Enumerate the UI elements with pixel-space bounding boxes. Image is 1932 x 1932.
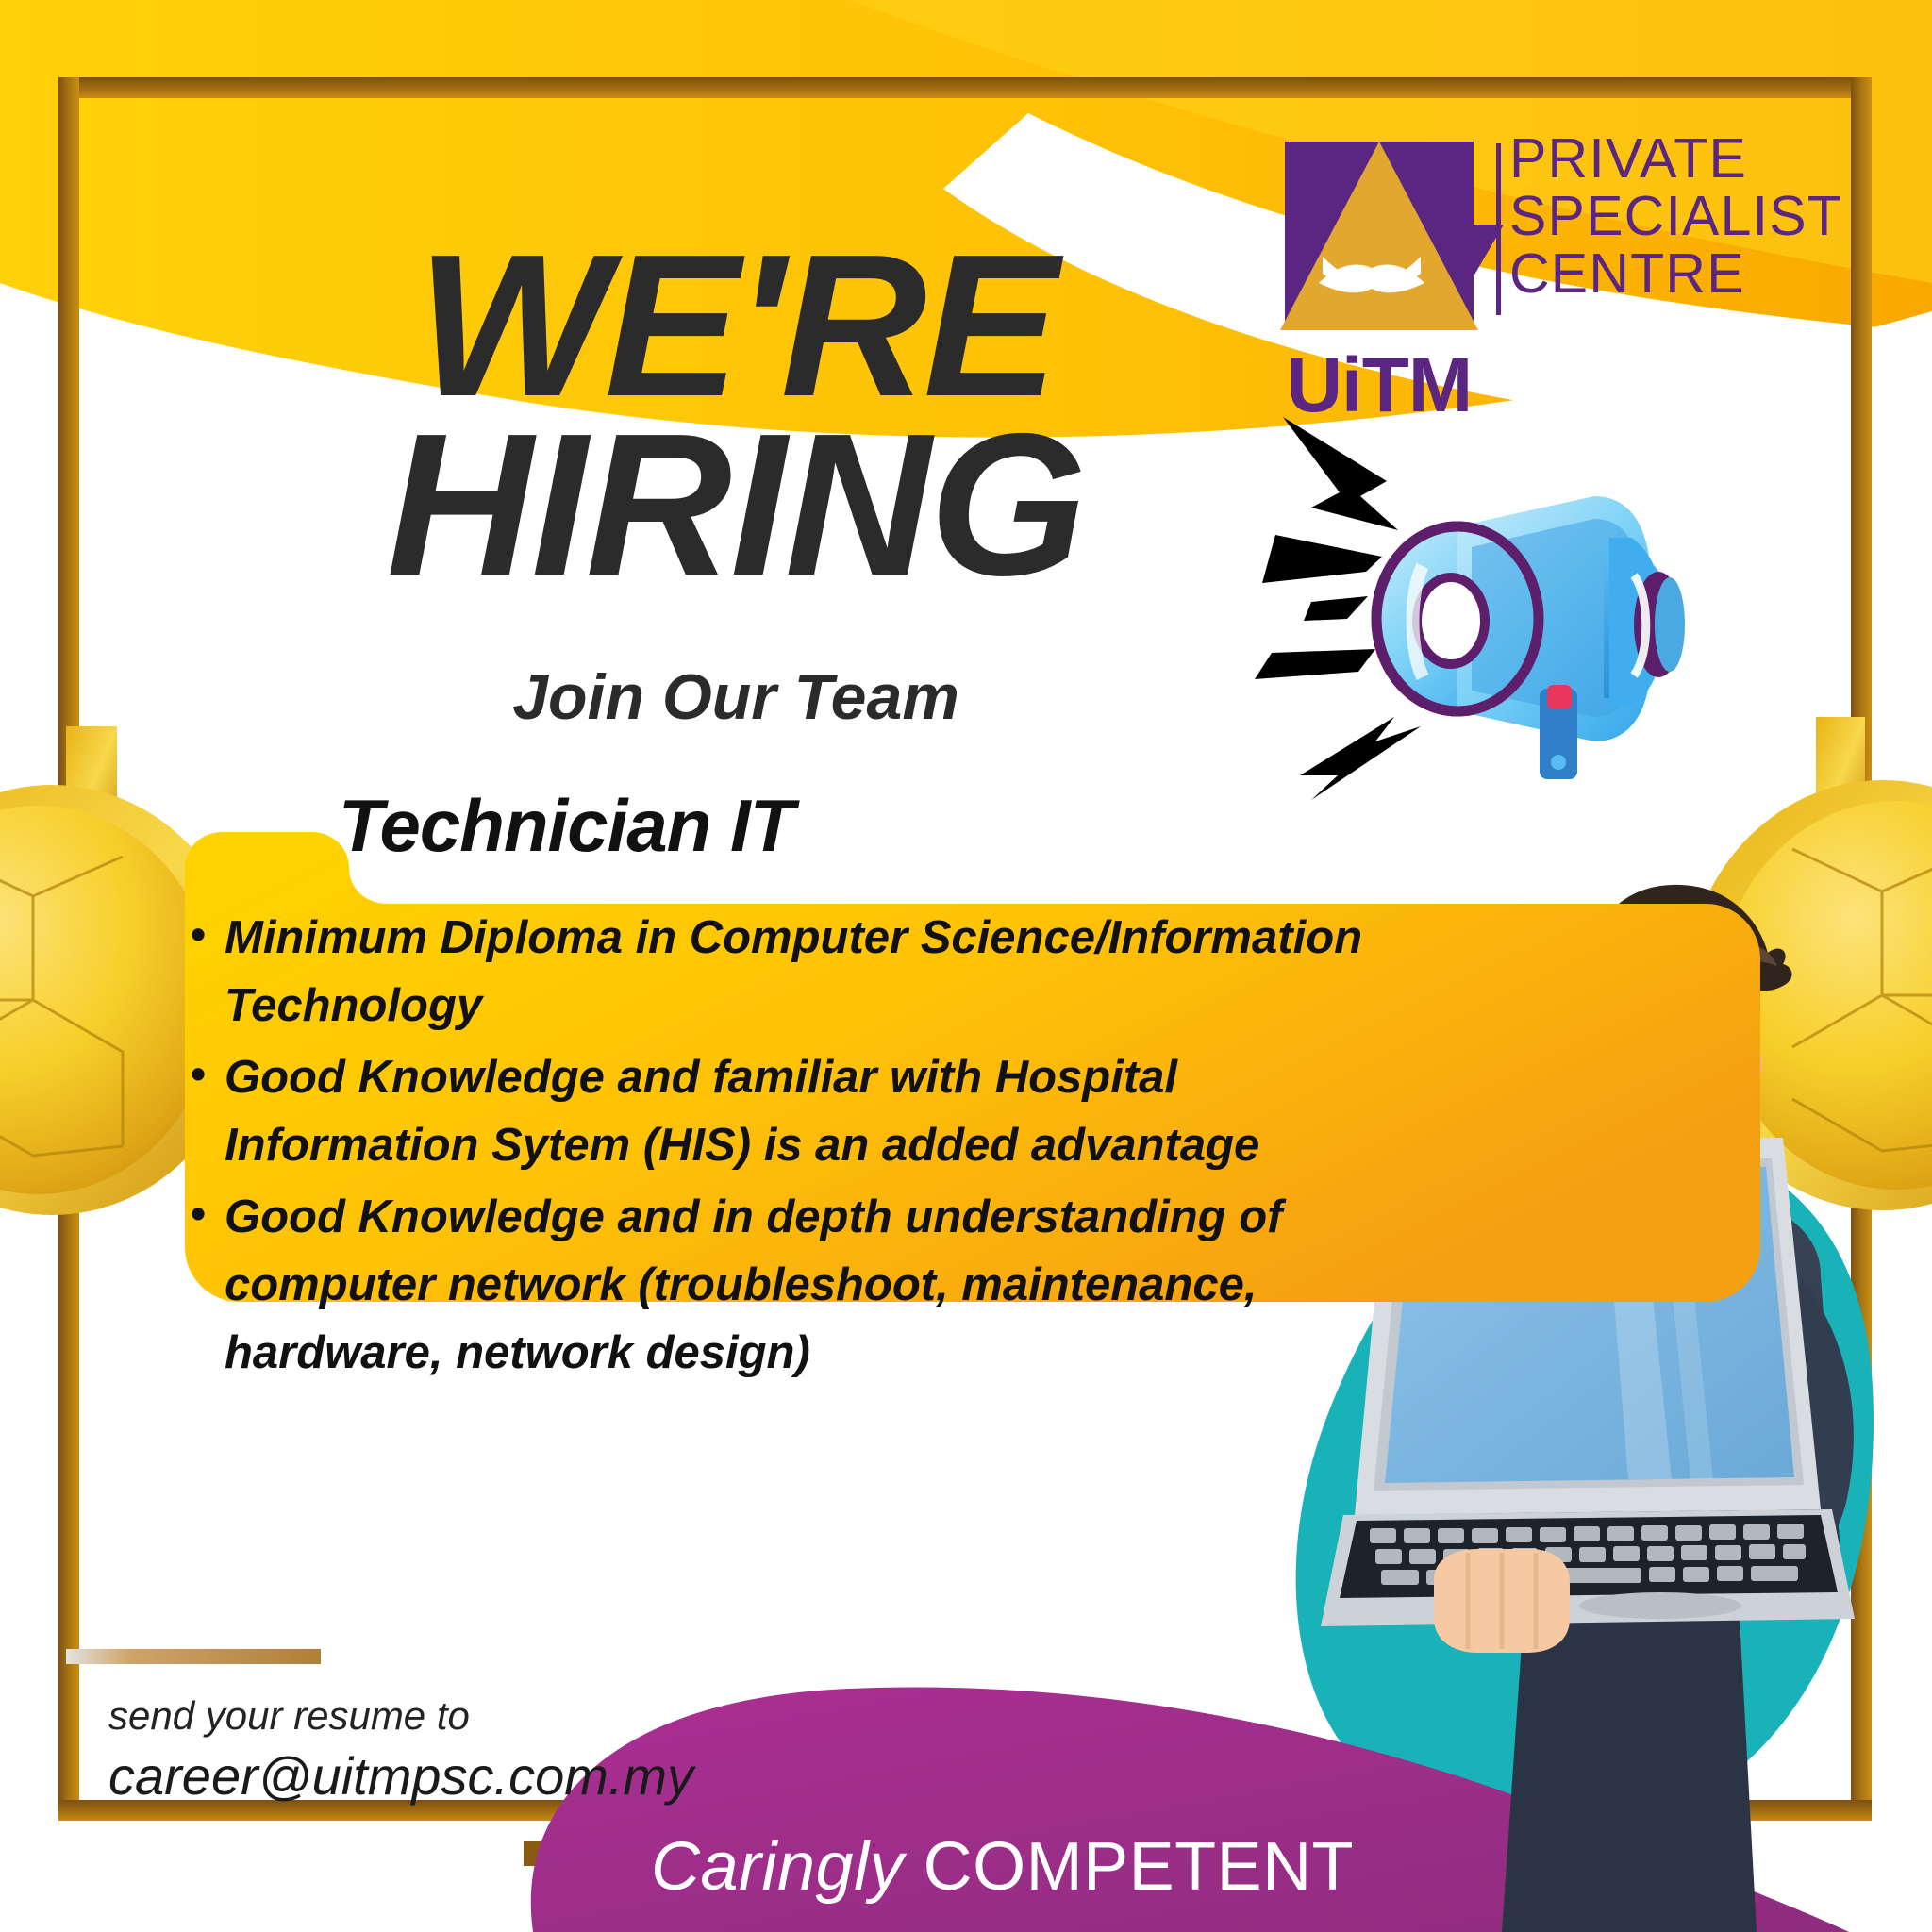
uitm-logo-mark: UiTM [1280,142,1504,428]
requirements-list: Minimum Diploma in Computer Science/Info… [185,904,1383,1391]
resume-email[interactable]: career@uitmpsc.com.my [108,1745,693,1807]
hiring-poster: UiTM PRIVATE SPECIALIST CENTRE WE'RE HIR… [0,0,1932,1932]
brand-name-line2: SPECIALIST [1509,188,1842,245]
brand-name: PRIVATE SPECIALIST CENTRE [1509,130,1842,303]
page-title: WE'RE HIRING [283,236,1189,594]
tagline-regular: COMPETENT [924,1829,1355,1905]
brand-name-line3: CENTRE [1509,245,1842,303]
headline-line-1: WE'RE [283,236,1189,415]
headline-line-2: HIRING [283,415,1189,594]
headline-subtitle: Join Our Team [283,660,1189,734]
job-title: Technician IT [208,783,924,869]
svg-text:UiTM: UiTM [1287,342,1472,428]
brand-name-line1: PRIVATE [1509,130,1842,188]
list-item: Good Knowledge and in depth understandin… [185,1183,1383,1387]
list-item: Good Knowledge and familiar with Hospita… [185,1043,1383,1179]
resume-label: send your resume to [108,1693,470,1739]
footer-tagline: Caringly COMPETENT [651,1828,1354,1906]
list-item: Minimum Diploma in Computer Science/Info… [185,904,1383,1040]
tagline-italic: Caringly [651,1829,924,1905]
